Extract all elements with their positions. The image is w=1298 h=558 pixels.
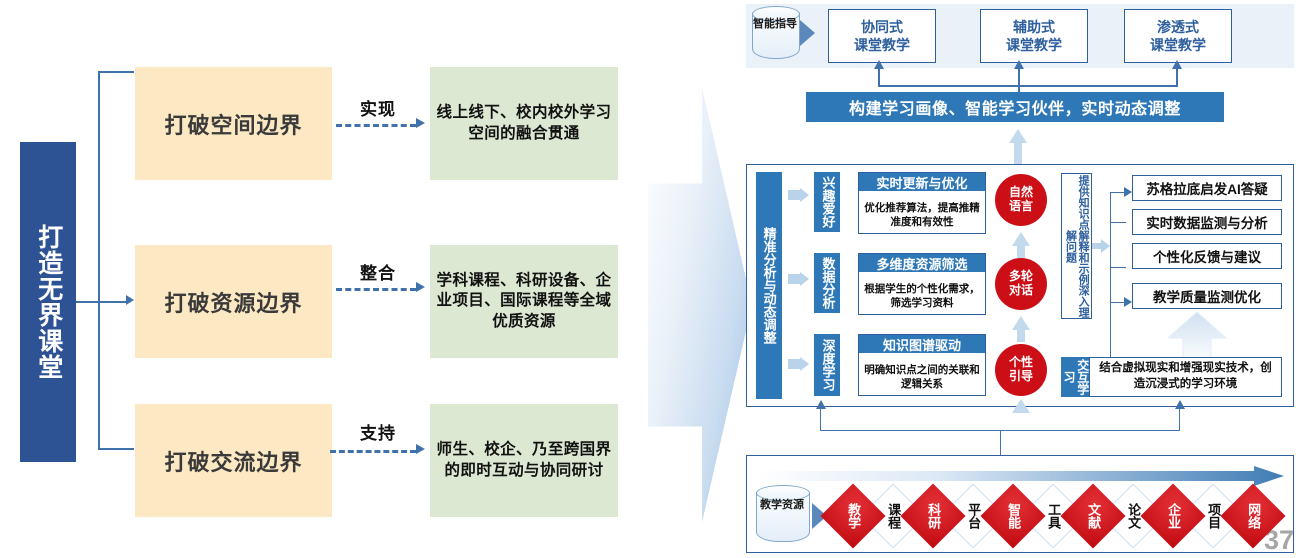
tag-deep-learning: 深度学习 <box>814 334 840 396</box>
dashed-arrowhead-2-icon <box>416 282 425 292</box>
left-title-box: 打造无界课堂 <box>20 142 76 462</box>
teaching-mode-1-line2: 课堂教学 <box>854 37 910 53</box>
tag-arrow-1-icon <box>800 188 809 202</box>
teaching-mode-box-1: 协同式 课堂教学 <box>828 9 936 63</box>
resource-cylinder-label: 教学资源 <box>756 499 808 513</box>
banner-arrowhead-1-icon <box>874 60 884 69</box>
output-box-realtime-data: 实时数据监测与分析 <box>1132 209 1282 235</box>
teaching-mode-box-3: 渗透式 课堂教学 <box>1124 9 1232 63</box>
tag-interest: 兴趣爱好 <box>814 172 840 232</box>
tag-arrow-2-icon <box>800 272 809 286</box>
banner-feed-arrowhead-icon <box>1009 129 1027 143</box>
circle-1-line1: 自然 <box>1009 185 1033 199</box>
card-1-body: 优化推荐算法，提高推精准度和有效性 <box>859 191 985 239</box>
circle-1-line2: 语言 <box>1009 199 1033 213</box>
boundary-box-2: 打破资源边界 <box>135 245 332 358</box>
tag-interactive-learning: 交互学习 <box>1061 357 1089 397</box>
card-3-body: 明确知识点之间的关联和逻辑关系 <box>859 353 985 401</box>
teaching-mode-1-line1: 协同式 <box>861 19 903 35</box>
circle-3-line1: 个性 <box>1009 355 1033 369</box>
output-box-socratic-ai: 苏格拉底启发AI答疑 <box>1132 175 1282 201</box>
banner-riser-1 <box>878 68 880 86</box>
outputs-arrowhead-4-icon <box>1124 297 1132 307</box>
slide-canvas: 打造无界课堂 打破空间边界 实现 线上线下、校内校外学习空间的融合贯通 打破资源… <box>0 0 1298 558</box>
bracket-arrowhead-icon <box>126 295 134 305</box>
relation-label-2: 整合 <box>348 260 408 282</box>
cylinder-label: 智能指导 <box>752 18 798 32</box>
outcome-box-3: 师生、校企、乃至跨国界的即时互动与协同研讨 <box>430 404 618 517</box>
circle-arrow-2-icon <box>1012 316 1030 330</box>
precise-analysis-label: 精准分析与动态调整 <box>756 172 782 399</box>
card-multidim-filter: 多维度资源筛选 根据学生的个性化需求，筛选学习资料 <box>858 253 986 315</box>
big-transition-arrow-icon <box>648 88 752 522</box>
circle-arrow-2-stem <box>1017 330 1025 342</box>
circle-natural-language: 自然 语言 <box>995 174 1047 226</box>
card-2-title: 多维度资源筛选 <box>859 254 985 272</box>
outputs-arrowhead-1-icon <box>1124 187 1132 197</box>
teaching-mode-3-line1: 渗透式 <box>1157 19 1199 35</box>
output-box-quality-monitor: 教学质量监测优化 <box>1132 283 1282 309</box>
outputs-branch-2 <box>1110 222 1126 223</box>
bottom-to-middle-arrowhead-left-icon <box>816 400 826 409</box>
tag-arrow-2-stem <box>788 274 801 284</box>
card-3-title: 知识图谱驱动 <box>859 335 985 353</box>
bottom-to-middle-arrowhead-right-icon <box>1175 400 1185 409</box>
teaching-mode-3-line2: 课堂教学 <box>1150 37 1206 53</box>
banner-feed-stem <box>1014 143 1022 165</box>
circle-arrow-1-stem <box>1017 246 1025 258</box>
chain-label-11: 网络 <box>1230 493 1276 539</box>
bracket-mid-arm <box>76 301 128 303</box>
boundary-box-3: 打破交流边界 <box>135 404 332 517</box>
banner-strip: 构建学习画像、智能学习伙伴，实时动态调整 <box>806 92 1224 122</box>
banner-rail <box>878 85 1178 87</box>
cylinder-arrow-icon <box>800 20 815 46</box>
bottom-to-middle-riser-center <box>1000 431 1001 456</box>
circle-multiturn-dialogue: 多轮 对话 <box>995 258 1047 310</box>
circle-arrow-1-icon <box>1012 232 1030 246</box>
bracket-vertical <box>98 71 100 449</box>
circle-3-line2: 引导 <box>1009 369 1033 383</box>
teaching-mode-2-line1: 辅助式 <box>1013 19 1055 35</box>
circle-arrow-3-icon <box>1012 399 1030 413</box>
card-realtime-update: 实时更新与优化 优化推荐算法，提高推精准度和有效性 <box>858 172 986 234</box>
relation-label-3: 支持 <box>348 420 408 442</box>
note-out-arrow-icon <box>1101 239 1110 253</box>
bottom-to-middle-riser-left <box>820 408 821 431</box>
dashed-connector-2 <box>336 288 416 291</box>
relation-label-1: 实现 <box>348 96 408 118</box>
tag-arrow-3-stem <box>788 359 801 369</box>
tag-arrow-1-stem <box>788 190 801 200</box>
circle-2-line1: 多轮 <box>1009 269 1033 283</box>
outputs-rail <box>1110 192 1111 372</box>
tag-arrow-3-icon <box>800 357 809 371</box>
dashed-connector-3 <box>330 450 416 453</box>
banner-arrowhead-3-icon <box>1172 60 1182 69</box>
banner-riser-3 <box>1176 68 1178 86</box>
knowledge-explanation-note: 提供知识点解释和示例深入理解问题 <box>1061 173 1092 319</box>
dashed-arrowhead-3-icon <box>416 444 425 454</box>
card-2-body: 根据学生的个性化需求，筛选学习资料 <box>859 272 985 320</box>
dashed-arrowhead-1-icon <box>416 118 425 128</box>
banner-arrowhead-2-icon <box>1014 60 1024 69</box>
outputs-branch-3 <box>1110 267 1126 268</box>
dashed-connector-1 <box>336 124 416 127</box>
outcome-box-1: 线上线下、校内校外学习空间的融合贯通 <box>430 67 618 180</box>
teaching-resource-cylinder: 教学资源 <box>756 485 808 547</box>
outcome-box-2: 学科课程、科研设备、企业项目、国际课程等全域优质资源 <box>430 245 618 358</box>
teaching-mode-box-2: 辅助式 课堂教学 <box>980 9 1088 63</box>
boundary-box-1: 打破空间边界 <box>135 67 332 180</box>
circle-personal-guidance: 个性 引导 <box>995 344 1047 396</box>
bracket-top-arm <box>98 71 134 73</box>
diamond-chain: 教学课程科研平台智能工具文献论文企业项目网络 <box>830 483 1282 549</box>
bracket-bottom-arm <box>98 448 134 450</box>
tag-data-analysis: 数据分析 <box>814 253 840 313</box>
teaching-mode-2-line2: 课堂教学 <box>1006 37 1062 53</box>
bottom-to-middle-riser-right <box>1179 408 1180 431</box>
card-1-title: 实时更新与优化 <box>859 173 985 191</box>
interactive-learning-text: 结合虚拟现实和增强现实技术，创造沉浸式的学习环境 <box>1089 357 1282 397</box>
intelligent-guidance-cylinder: 智能指导 <box>752 6 798 64</box>
output-box-personal-feedback: 个性化反馈与建议 <box>1132 243 1282 269</box>
card-knowledge-graph: 知识图谱驱动 明确知识点之间的关联和逻辑关系 <box>858 334 986 396</box>
circle-2-line2: 对话 <box>1009 283 1033 297</box>
